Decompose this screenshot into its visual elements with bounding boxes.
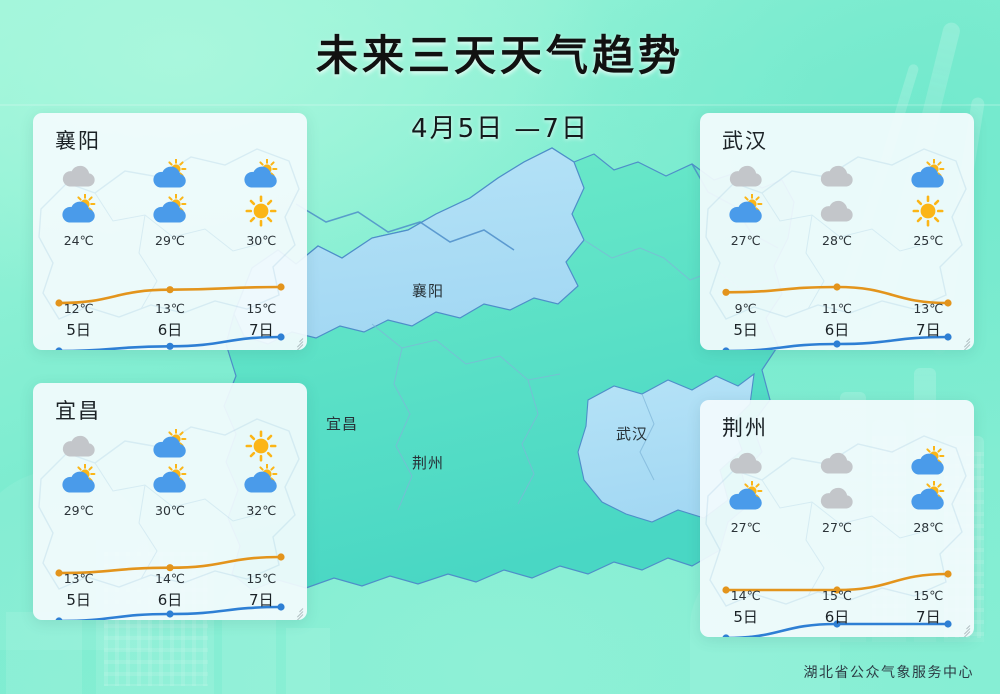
- forecast-day-column: 30℃: [124, 429, 215, 518]
- forecast-day-column: 24℃: [33, 159, 124, 248]
- weather-icon-sunny: [238, 194, 284, 228]
- day-label-row: 5日6日7日: [33, 589, 307, 610]
- weather-icon-partly-sunny: [723, 194, 769, 228]
- map-label-xiangyang: 襄阳: [412, 280, 444, 301]
- card-city-name: 宜昌: [55, 395, 101, 425]
- day-label: 5日: [700, 319, 791, 340]
- forecast-card-xiangyang[interactable]: 襄阳24℃29℃30℃ 12℃13℃15℃5日6日7日: [33, 113, 307, 350]
- resize-handle-icon[interactable]: [290, 334, 303, 347]
- forecast-columns: 29℃30℃32℃: [33, 429, 307, 518]
- card-city-name: 武汉: [722, 125, 768, 155]
- forecast-day-column: 28℃: [883, 446, 974, 535]
- weather-icon-partly-sunny: [147, 429, 193, 463]
- day-label: 6日: [791, 319, 882, 340]
- day-label: 6日: [124, 589, 215, 610]
- forecast-columns: 27℃27℃28℃: [700, 446, 974, 535]
- forecast-columns: 24℃29℃30℃: [33, 159, 307, 248]
- high-temp-label: 30℃: [155, 503, 185, 518]
- footer-credit: 湖北省公众气象服务中心: [804, 662, 975, 682]
- weather-icon-cloudy-gray: [723, 446, 769, 480]
- resize-handle-icon[interactable]: [957, 334, 970, 347]
- forecast-card-jingzhou[interactable]: 荆州27℃27℃28℃ 14℃15℃15℃5日6日7日: [700, 400, 974, 637]
- high-temp-label: 24℃: [64, 233, 94, 248]
- weather-icon-sunny: [238, 429, 284, 463]
- weather-icon-cloudy-gray: [814, 446, 860, 480]
- low-temp-row: 12℃13℃15℃: [33, 301, 307, 316]
- weather-icon-sunny: [905, 194, 951, 228]
- high-temp-label: 32℃: [246, 503, 276, 518]
- high-temp-label: 25℃: [913, 233, 943, 248]
- low-temp-label: 15℃: [216, 571, 307, 586]
- day-label-row: 5日6日7日: [700, 606, 974, 627]
- weather-icon-cloudy-gray: [56, 429, 102, 463]
- weather-icon-partly-sunny: [905, 446, 951, 480]
- day-label-row: 5日6日7日: [33, 319, 307, 340]
- low-temp-label: 13℃: [883, 301, 974, 316]
- forecast-day-column: 29℃: [124, 159, 215, 248]
- map-label-yichang: 宜昌: [326, 413, 358, 434]
- day-label-row: 5日6日7日: [700, 319, 974, 340]
- forecast-day-column: 28℃: [791, 159, 882, 248]
- forecast-day-column: 30℃: [216, 159, 307, 248]
- high-temp-label: 27℃: [822, 520, 852, 535]
- weather-icon-partly-sunny: [147, 194, 193, 228]
- weather-icon-cloudy-gray: [814, 194, 860, 228]
- forecast-day-column: 32℃: [216, 429, 307, 518]
- forecast-day-column: 27℃: [700, 446, 791, 535]
- forecast-card-wuhan[interactable]: 武汉27℃28℃25℃ 9℃11℃13℃5日6日7日: [700, 113, 974, 350]
- forecast-day-column: 27℃: [700, 159, 791, 248]
- forecast-card-yichang[interactable]: 宜昌29℃30℃32℃ 13℃14℃15℃5日6日7日: [33, 383, 307, 620]
- forecast-columns: 27℃28℃25℃: [700, 159, 974, 248]
- low-temp-label: 13℃: [33, 571, 124, 586]
- weather-icon-partly-sunny: [905, 159, 951, 193]
- low-temp-label: 15℃: [791, 588, 882, 603]
- low-temp-label: 14℃: [700, 588, 791, 603]
- weather-icon-partly-sunny: [723, 481, 769, 515]
- forecast-day-column: 27℃: [791, 446, 882, 535]
- weather-infographic: 襄阳 宜昌 荆州 武汉 未来三天天气趋势 4月5日 —7日 襄阳24℃29℃30…: [0, 0, 1000, 694]
- low-temp-label: 15℃: [883, 588, 974, 603]
- day-label: 6日: [791, 606, 882, 627]
- low-temp-row: 9℃11℃13℃: [700, 301, 974, 316]
- day-label: 6日: [124, 319, 215, 340]
- high-temp-label: 30℃: [246, 233, 276, 248]
- low-temp-label: 13℃: [124, 301, 215, 316]
- low-temp-row: 13℃14℃15℃: [33, 571, 307, 586]
- weather-icon-partly-sunny: [905, 481, 951, 515]
- low-temp-label: 15℃: [216, 301, 307, 316]
- weather-icon-cloudy-gray: [56, 159, 102, 193]
- map-label-jingzhou: 荆州: [412, 452, 444, 473]
- weather-icon-cloudy-gray: [814, 159, 860, 193]
- weather-icon-partly-sunny: [147, 159, 193, 193]
- high-temp-label: 28℃: [913, 520, 943, 535]
- day-label: 5日: [700, 606, 791, 627]
- weather-icon-cloudy-gray: [723, 159, 769, 193]
- weather-icon-partly-sunny: [238, 464, 284, 498]
- page-title: 未来三天天气趋势: [0, 22, 1000, 83]
- card-city-name: 荆州: [722, 412, 768, 442]
- resize-handle-icon[interactable]: [290, 604, 303, 617]
- weather-icon-cloudy-gray: [814, 481, 860, 515]
- low-temp-label: 14℃: [124, 571, 215, 586]
- low-temp-label: 11℃: [791, 301, 882, 316]
- weather-icon-partly-sunny: [238, 159, 284, 193]
- high-temp-label: 29℃: [64, 503, 94, 518]
- forecast-day-column: 29℃: [33, 429, 124, 518]
- high-temp-label: 27℃: [731, 520, 761, 535]
- low-temp-label: 9℃: [700, 301, 791, 316]
- low-temp-label: 12℃: [33, 301, 124, 316]
- forecast-day-column: 25℃: [883, 159, 974, 248]
- day-label: 5日: [33, 589, 124, 610]
- resize-handle-icon[interactable]: [957, 621, 970, 634]
- day-label: 5日: [33, 319, 124, 340]
- high-temp-label: 28℃: [822, 233, 852, 248]
- weather-icon-partly-sunny: [56, 194, 102, 228]
- card-city-name: 襄阳: [55, 125, 101, 155]
- weather-icon-partly-sunny: [147, 464, 193, 498]
- weather-icon-partly-sunny: [56, 464, 102, 498]
- high-temp-label: 29℃: [155, 233, 185, 248]
- map-label-wuhan: 武汉: [616, 423, 648, 444]
- high-temp-label: 27℃: [731, 233, 761, 248]
- low-temp-row: 14℃15℃15℃: [700, 588, 974, 603]
